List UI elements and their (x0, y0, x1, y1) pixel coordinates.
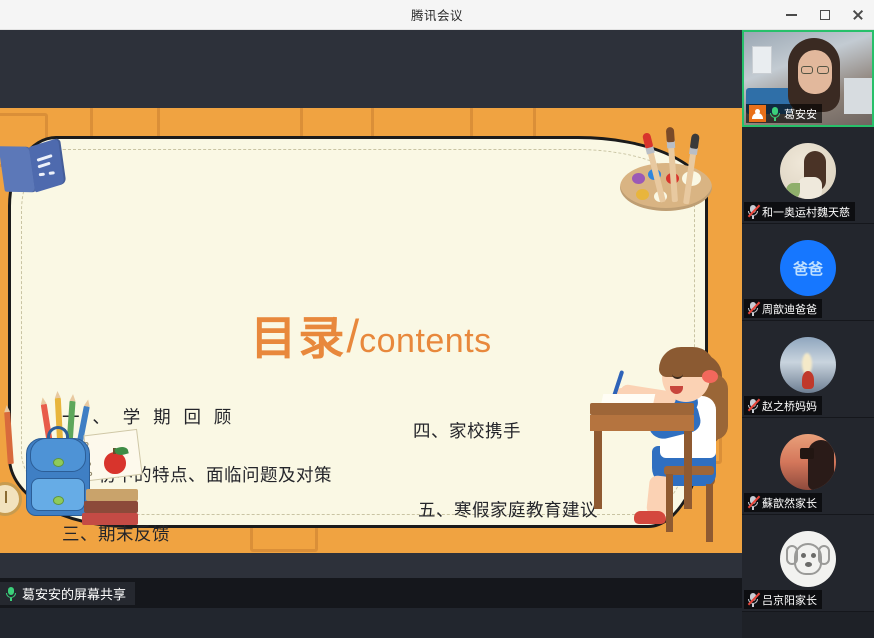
participant-name: 蘇歆然家长 (762, 495, 817, 511)
clock-icon (0, 482, 22, 516)
participant-name: 和一奥运村魏天慈 (762, 204, 850, 220)
slide-title-en: contents (359, 322, 492, 360)
apple-icon (104, 452, 126, 474)
paint-brushes-icon (650, 126, 700, 204)
stationery-cluster-icon (0, 386, 136, 553)
minimize-icon (786, 14, 797, 16)
microphone-muted-icon (747, 592, 759, 607)
close-button[interactable] (841, 0, 874, 30)
participant-tile[interactable]: 爸爸 周歆迪爸爸 (742, 224, 874, 321)
avatar (780, 143, 836, 199)
participant-nameplate: 蘇歆然家长 (744, 493, 822, 512)
participant-tile[interactable]: 吕京阳家长 (742, 515, 874, 612)
participant-tile[interactable]: 赵之桥妈妈 (742, 321, 874, 418)
book-stack-icon (86, 489, 138, 501)
avatar: 爸爸 (780, 240, 836, 296)
participant-name: 赵之桥妈妈 (762, 398, 817, 414)
participant-rail[interactable]: 葛安安 和一奥运村魏天慈 爸爸 周歆迪爸爸 (742, 30, 874, 638)
participant-tile[interactable]: 蘇歆然家长 (742, 418, 874, 515)
participant-tile[interactable]: 和一奥运村魏天慈 (742, 127, 874, 224)
pencil-icon (4, 412, 14, 464)
toc-item-4: 四、家校携手 (413, 418, 521, 443)
close-icon (852, 9, 864, 21)
window-controls (775, 0, 874, 30)
participant-name: 吕京阳家长 (762, 592, 817, 608)
share-indicator[interactable]: 葛安安的屏幕共享 (0, 582, 135, 605)
participant-nameplate: 赵之桥妈妈 (744, 396, 822, 415)
maximize-button[interactable] (808, 0, 841, 30)
participant-nameplate: 葛安安 (746, 104, 822, 123)
microphone-on-icon (5, 586, 17, 601)
avatar (780, 434, 836, 490)
avatar (780, 337, 836, 393)
maximize-icon (820, 10, 830, 20)
toc-item-5: 五、寒假家庭教育建议 (418, 497, 598, 522)
avatar (780, 531, 836, 587)
microphone-on-icon (769, 106, 781, 121)
share-status-bar: 葛安安的屏幕共享 (0, 578, 742, 608)
participant-tile[interactable]: 葛安安 (742, 30, 874, 127)
title-bar: 腾讯会议 (0, 0, 874, 30)
meeting-window: 腾讯会议 目录/contents 一 、 学 期 回 顾 (0, 0, 874, 638)
open-book-icon (0, 140, 69, 198)
minimize-button[interactable] (775, 0, 808, 30)
slide-title-cn: 目录 (250, 312, 346, 364)
avatar-initials: 爸爸 (793, 258, 823, 279)
microphone-muted-icon (747, 398, 759, 413)
participant-nameplate: 和一奥运村魏天慈 (744, 202, 855, 221)
microphone-muted-icon (747, 204, 759, 219)
participant-name: 周歆迪爸爸 (762, 301, 817, 317)
student-writing-icon (586, 348, 742, 553)
shared-screen-stage[interactable]: 目录/contents 一 、 学 期 回 顾 二、初中的特点、面临问题及对策 … (0, 30, 742, 608)
slide-title-slash: / (346, 310, 359, 362)
microphone-muted-icon (747, 301, 759, 316)
window-title: 腾讯会议 (411, 5, 463, 24)
share-status-text: 葛安安的屏幕共享 (22, 584, 126, 603)
presentation-slide: 目录/contents 一 、 学 期 回 顾 二、初中的特点、面临问题及对策 … (0, 108, 742, 553)
participant-nameplate: 吕京阳家长 (744, 590, 822, 609)
microphone-muted-icon (747, 495, 759, 510)
participant-nameplate: 周歆迪爸爸 (744, 299, 822, 318)
host-badge-icon (749, 105, 766, 122)
participant-name: 葛安安 (784, 106, 817, 122)
